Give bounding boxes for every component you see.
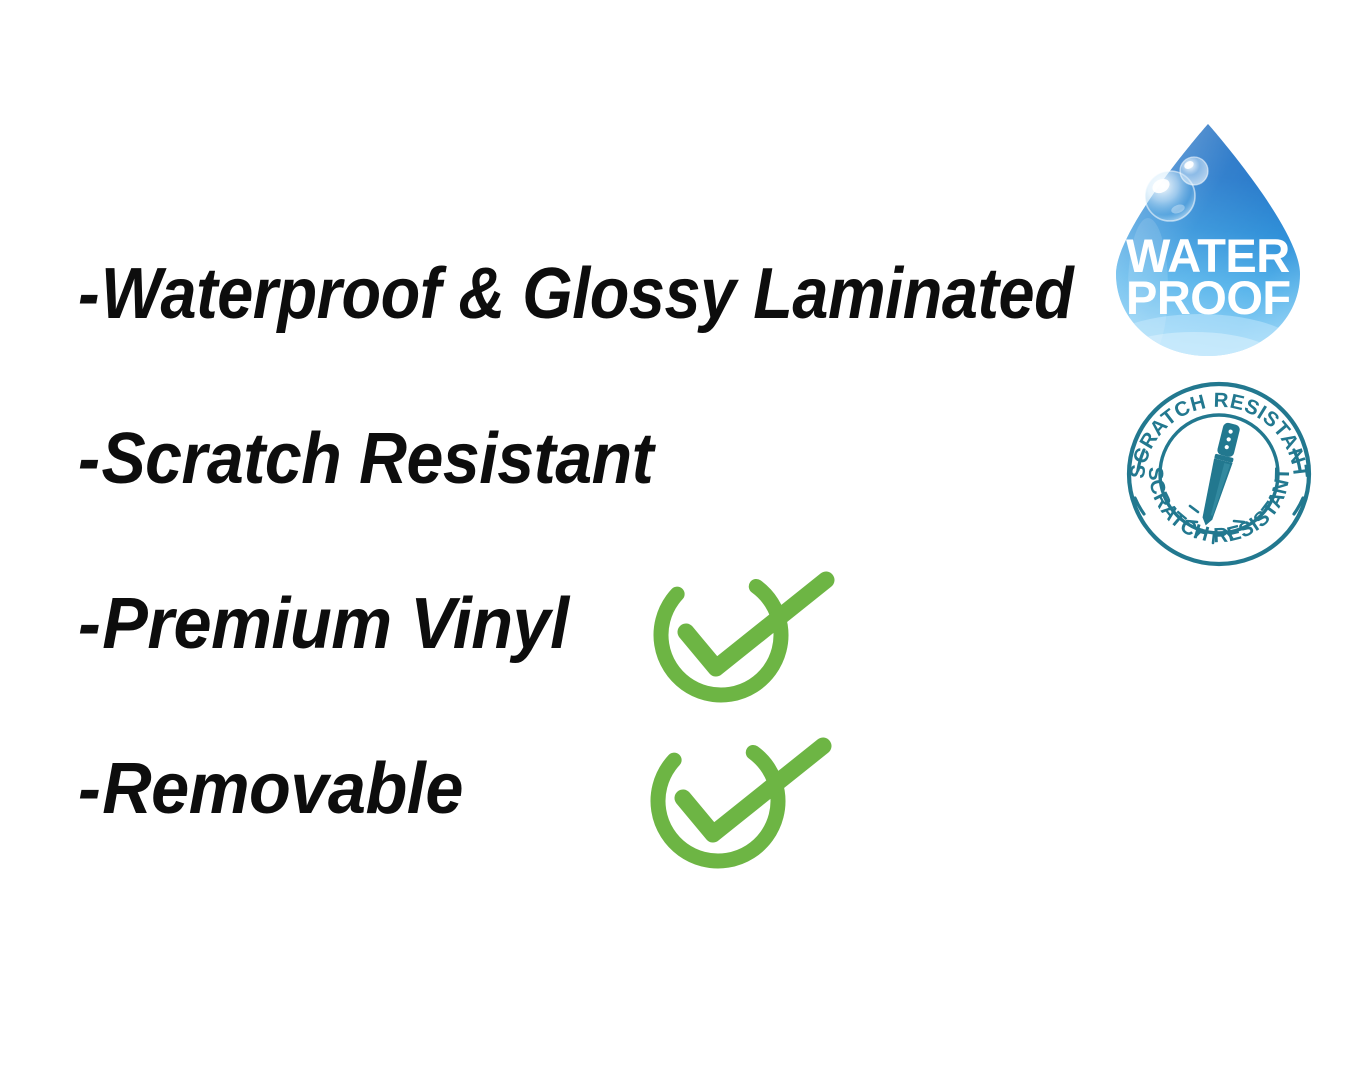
feature-bullet-dash: -: [78, 588, 100, 660]
feature-item-removable: -Removable: [78, 753, 463, 825]
water-bubble-small: [1180, 157, 1208, 185]
feature-label: Premium Vinyl: [102, 584, 568, 664]
feature-item-premium-vinyl: -Premium Vinyl: [78, 588, 569, 660]
waterproof-text-group: WATER PROOF: [1126, 229, 1291, 324]
scratch-resistant-badge: SCRATCH RESISTANT SCRATCH RESISTANT: [1122, 380, 1316, 568]
feature-item-waterproof-glossy-laminated: -Waterproof & Glossy Laminated: [78, 258, 1073, 330]
feature-bullet-dash: -: [78, 258, 99, 330]
feature-label: Waterproof & Glossy Laminated: [101, 254, 1073, 334]
check-ring-2: [634, 717, 802, 885]
feature-bullet-dash: -: [78, 753, 100, 825]
feature-label: Removable: [102, 749, 463, 829]
feature-bullet-dash: -: [78, 423, 100, 495]
feature-item-scratch-resistant: -Scratch Resistant: [78, 423, 653, 495]
green-check-circle-2: [633, 716, 833, 886]
knife-icon: [1198, 422, 1242, 528]
waterproof-badge: WATER PROOF: [1104, 108, 1312, 370]
green-check-circle-1: [636, 550, 836, 720]
feature-label: Scratch Resistant: [101, 419, 653, 499]
page-canvas: -Waterproof & Glossy Laminated -Scratch …: [0, 0, 1359, 1080]
check-ring-1: [637, 551, 805, 719]
waterproof-line2: PROOF: [1126, 271, 1291, 324]
